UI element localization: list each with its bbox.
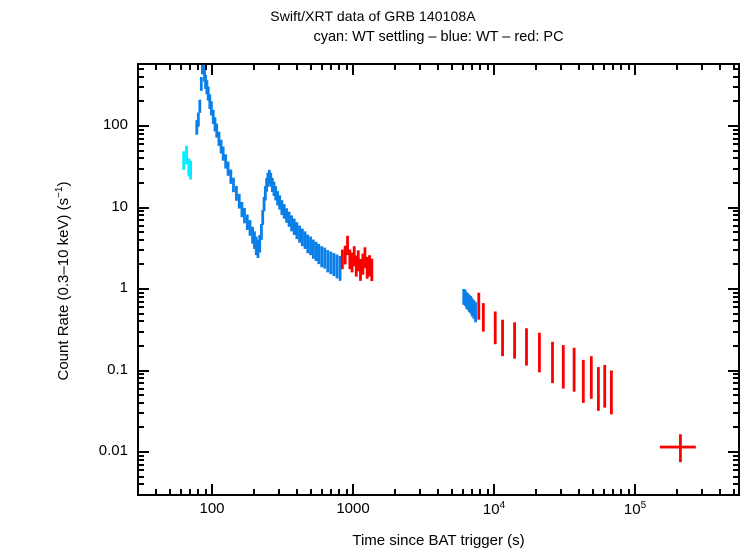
error-bar-horizontal [660, 446, 696, 449]
error-bar-vertical [370, 259, 373, 281]
x-tick-minor-top [578, 63, 580, 70]
y-tick-minor [137, 239, 144, 241]
error-bar-vertical [597, 367, 600, 411]
y-tick-minor [137, 225, 144, 227]
x-tick-minor [451, 489, 453, 496]
y-tick-minor-right [733, 306, 740, 308]
x-tick-minor [462, 489, 464, 496]
error-bar-vertical [283, 204, 286, 219]
y-tick-minor [137, 301, 144, 303]
error-bar-vertical [227, 162, 230, 176]
x-tick-minor-top [197, 63, 199, 70]
legend-subtitle: cyan: WT settling – blue: WT – red: PC [137, 29, 740, 45]
error-bar-vertical [326, 250, 329, 272]
y-tick-minor [137, 483, 144, 485]
x-tick-minor [437, 489, 439, 496]
error-bar-vertical [562, 345, 565, 388]
y-tick-minor-right [733, 214, 740, 216]
x-tick-minor-top [628, 63, 630, 70]
y-tick-minor-right [733, 476, 740, 478]
y-tick-minor [137, 133, 144, 135]
x-tick-minor [628, 489, 630, 496]
error-bar-vertical [474, 302, 477, 322]
x-tick-minor-top [592, 63, 594, 70]
y-tick-minor [137, 157, 144, 159]
y-tick-minor-right [733, 219, 740, 221]
error-bar-vertical [501, 320, 504, 356]
data-layer [139, 65, 738, 494]
y-tick-minor-right [733, 143, 740, 145]
x-tick-minor [471, 489, 473, 496]
error-bar-vertical [482, 303, 485, 331]
x-tick-minor [155, 489, 157, 496]
y-tick-minor [137, 249, 144, 251]
x-tick-minor [310, 489, 312, 496]
x-tick-major [634, 484, 636, 496]
y-tick-minor [137, 150, 144, 152]
error-bar-vertical [329, 252, 332, 275]
y-tick-minor [137, 306, 144, 308]
y-tick-minor [137, 345, 144, 347]
x-tick-minor-top [719, 63, 721, 70]
y-tick-minor [137, 459, 144, 461]
y-tick-minor [137, 100, 144, 102]
y-tick-minor-right [733, 469, 740, 471]
error-bar-vertical [197, 113, 200, 127]
error-bar-vertical [582, 360, 585, 403]
x-tick-minor [487, 489, 489, 496]
error-bar-vertical [249, 220, 252, 236]
x-tick-minor-top [620, 63, 622, 70]
y-tick-minor-right [733, 225, 740, 227]
error-bar-vertical [222, 147, 225, 161]
x-tick-minor [419, 489, 421, 496]
y-tick-minor [137, 168, 144, 170]
y-tick-minor [137, 455, 144, 457]
y-tick-minor-right [733, 388, 740, 390]
error-bar-vertical [261, 210, 264, 225]
error-bar-horizontal [185, 154, 187, 157]
x-tick-minor-top [321, 63, 323, 70]
error-bar-vertical [494, 311, 497, 344]
x-tick-label: 100 [167, 500, 257, 517]
x-tick-minor-top [535, 63, 537, 70]
error-bar-vertical [309, 237, 312, 256]
y-tick-minor-right [733, 182, 740, 184]
x-tick-minor-top [419, 63, 421, 70]
x-tick-minor-top [189, 63, 191, 70]
x-tick-minor [137, 489, 139, 496]
y-tick-minor-right [733, 412, 740, 414]
error-bar-vertical [590, 356, 593, 399]
y-tick-minor-right [733, 129, 740, 131]
y-tick-minor-right [733, 168, 740, 170]
y-tick-minor [137, 231, 144, 233]
y-tick-minor-right [733, 249, 740, 251]
x-tick-minor-top [155, 63, 157, 70]
error-bar-vertical [323, 248, 326, 269]
error-bar-vertical [366, 257, 369, 279]
x-tick-minor-top [612, 63, 614, 70]
error-bar-vertical [285, 208, 288, 223]
x-tick-minor-top [394, 63, 396, 70]
y-tick-minor [137, 373, 144, 375]
y-tick-minor [137, 394, 144, 396]
x-tick-minor-top [137, 63, 139, 70]
series-wt [195, 65, 477, 322]
y-tick-minor-right [733, 76, 740, 78]
error-bar-vertical [317, 244, 320, 264]
error-bar-vertical [293, 219, 296, 235]
y-tick-minor-right [733, 483, 740, 485]
error-bar-vertical [243, 208, 246, 223]
y-tick-minor-right [733, 313, 740, 315]
xrt-lightcurve-figure: Swift/XRT data of GRB 140108A cyan: WT s… [0, 0, 746, 558]
y-tick-minor-right [733, 133, 740, 135]
plot-area [137, 63, 740, 496]
y-tick-minor-right [733, 239, 740, 241]
x-tick-minor [338, 489, 340, 496]
y-tick-minor [137, 388, 144, 390]
x-tick-minor-top [205, 63, 207, 70]
y-tick-minor-right [733, 100, 740, 102]
y-tick-minor-right [733, 394, 740, 396]
x-tick-minor-top [346, 63, 348, 70]
y-tick-minor-right [733, 377, 740, 379]
y-tick-minor-right [733, 301, 740, 303]
x-tick-minor-top [169, 63, 171, 70]
x-tick-minor [535, 489, 537, 496]
y-tick-minor [137, 377, 144, 379]
y-tick-minor [137, 292, 144, 294]
error-bar-vertical [513, 322, 516, 358]
error-bar-vertical [312, 239, 315, 258]
error-bar-vertical [288, 212, 291, 227]
error-bar-vertical [344, 246, 347, 265]
error-bar-vertical [525, 328, 528, 365]
error-bar-vertical [538, 333, 541, 373]
x-tick-minor [733, 489, 735, 496]
error-bar-vertical [298, 226, 301, 243]
y-tick-minor [137, 129, 144, 131]
y-tick-major-right [728, 125, 740, 127]
x-tick-label: 1000 [308, 500, 398, 517]
error-bar-vertical [477, 293, 480, 320]
y-tick-minor-right [733, 459, 740, 461]
x-tick-label: 104 [449, 500, 539, 518]
x-tick-minor-top [253, 63, 255, 70]
error-bar-vertical [306, 235, 309, 254]
x-tick-minor [189, 489, 191, 496]
x-tick-minor-top [180, 63, 182, 70]
error-bar-vertical [573, 348, 576, 392]
y-tick-minor [137, 143, 144, 145]
y-tick-major-right [728, 207, 740, 209]
error-bar-vertical [246, 215, 249, 230]
x-tick-minor-top [487, 63, 489, 70]
series-wt-settling [182, 146, 192, 180]
y-tick-minor-right [733, 292, 740, 294]
x-tick-major-top [211, 63, 213, 75]
y-tick-minor-right [733, 210, 740, 212]
error-bar-vertical [235, 186, 238, 201]
x-tick-minor [676, 489, 678, 496]
error-bar-vertical [224, 154, 227, 168]
x-tick-major-top [634, 63, 636, 75]
y-tick-minor-right [733, 150, 740, 152]
y-tick-major-right [728, 288, 740, 290]
x-tick-minor [346, 489, 348, 496]
x-tick-minor-top [701, 63, 703, 70]
error-bar-vertical [341, 250, 344, 270]
x-tick-minor-top [330, 63, 332, 70]
y-tick-minor-right [733, 320, 740, 322]
error-bar-vertical [238, 194, 241, 209]
error-bar-horizontal [183, 159, 185, 162]
y-axis-label-tail: ) [55, 182, 72, 187]
error-bar-vertical [315, 242, 318, 261]
x-tick-minor [205, 489, 207, 496]
error-bar-vertical [304, 231, 307, 249]
x-tick-major [352, 484, 354, 496]
x-tick-minor-top [437, 63, 439, 70]
x-tick-minor [592, 489, 594, 496]
y-tick-minor [137, 402, 144, 404]
y-tick-major [137, 125, 149, 127]
y-axis-label-text: Count Rate (0.3–10 keV) (s [55, 198, 72, 381]
x-tick-minor [278, 489, 280, 496]
x-tick-minor-top [278, 63, 280, 70]
y-tick-minor-right [733, 426, 740, 428]
x-tick-major-top [352, 63, 354, 75]
x-tick-minor [701, 489, 703, 496]
y-tick-minor [137, 426, 144, 428]
y-tick-minor-right [733, 464, 740, 466]
y-tick-minor-right [733, 138, 740, 140]
error-bar-vertical [232, 178, 235, 193]
y-tick-minor [137, 76, 144, 78]
x-tick-minor [169, 489, 171, 496]
x-tick-minor-top [676, 63, 678, 70]
y-tick-minor [137, 219, 144, 221]
x-tick-minor-top [733, 63, 735, 70]
y-tick-minor [137, 412, 144, 414]
x-tick-minor-top [310, 63, 312, 70]
error-bar-vertical [290, 215, 293, 231]
error-bar-vertical [200, 77, 203, 91]
x-tick-minor [620, 489, 622, 496]
x-tick-minor [197, 489, 199, 496]
y-tick-minor [137, 464, 144, 466]
error-bar-vertical [198, 100, 201, 113]
y-tick-major [137, 288, 149, 290]
x-tick-minor [719, 489, 721, 496]
y-tick-minor-right [733, 263, 740, 265]
error-bar-horizontal [190, 168, 192, 171]
y-tick-major [137, 451, 149, 453]
error-bar-vertical [551, 342, 554, 383]
y-axis-label: Count Rate (0.3–10 keV) (s−1) [54, 111, 72, 451]
x-tick-minor [296, 489, 298, 496]
y-tick-minor [137, 182, 144, 184]
y-tick-minor-right [733, 86, 740, 88]
x-tick-minor-top [479, 63, 481, 70]
error-bar-vertical [229, 170, 232, 184]
y-tick-minor [137, 210, 144, 212]
page-title: Swift/XRT data of GRB 140108A [0, 8, 746, 24]
error-bar-vertical [241, 202, 244, 217]
x-tick-minor [180, 489, 182, 496]
x-tick-minor-top [338, 63, 340, 70]
x-tick-minor [578, 489, 580, 496]
x-tick-minor-top [451, 63, 453, 70]
error-bar-vertical [320, 246, 323, 267]
x-tick-minor-top [603, 63, 605, 70]
x-tick-major [211, 484, 213, 496]
x-tick-minor [612, 489, 614, 496]
x-tick-minor [253, 489, 255, 496]
y-tick-minor [137, 86, 144, 88]
error-bar-vertical [260, 224, 263, 240]
y-tick-minor-right [733, 296, 740, 298]
y-tick-minor [137, 469, 144, 471]
x-tick-minor-top [560, 63, 562, 70]
error-bar-vertical [295, 222, 298, 239]
y-tick-minor-right [733, 331, 740, 333]
error-bar-vertical [336, 255, 339, 279]
x-axis-label: Time since BAT trigger (s) [137, 532, 740, 549]
x-tick-label: 105 [590, 500, 680, 518]
x-tick-minor-top [462, 63, 464, 70]
y-tick-minor-right [733, 345, 740, 347]
y-tick-minor-right [733, 455, 740, 457]
x-tick-major-top [493, 63, 495, 75]
x-tick-minor [560, 489, 562, 496]
y-tick-minor [137, 331, 144, 333]
y-tick-minor [137, 138, 144, 140]
y-tick-minor-right [733, 231, 740, 233]
x-tick-minor-top [296, 63, 298, 70]
x-tick-minor [603, 489, 605, 496]
series-pc [341, 236, 696, 462]
x-tick-minor [394, 489, 396, 496]
y-tick-minor-right [733, 382, 740, 384]
y-tick-minor [137, 313, 144, 315]
x-tick-minor [321, 489, 323, 496]
y-tick-major-right [728, 451, 740, 453]
y-tick-minor [137, 263, 144, 265]
y-axis-label-exponent: −1 [54, 187, 65, 198]
y-tick-minor-right [733, 157, 740, 159]
error-bar-vertical [603, 365, 606, 408]
x-axis-label-text: Time since BAT trigger (s) [352, 532, 524, 549]
y-tick-major [137, 207, 149, 209]
error-bar-vertical [359, 259, 362, 281]
y-tick-major [137, 370, 149, 372]
y-tick-minor-right [733, 373, 740, 375]
x-tick-minor [330, 489, 332, 496]
y-tick-minor [137, 476, 144, 478]
error-bar-vertical [332, 253, 335, 276]
y-tick-minor [137, 382, 144, 384]
y-tick-major-right [728, 370, 740, 372]
y-tick-minor-right [733, 402, 740, 404]
y-tick-minor [137, 214, 144, 216]
error-bar-vertical [610, 371, 613, 415]
x-tick-minor-top [471, 63, 473, 70]
y-tick-minor [137, 320, 144, 322]
x-tick-major [493, 484, 495, 496]
error-bar-vertical [301, 229, 304, 247]
x-tick-minor [479, 489, 481, 496]
y-tick-minor [137, 296, 144, 298]
